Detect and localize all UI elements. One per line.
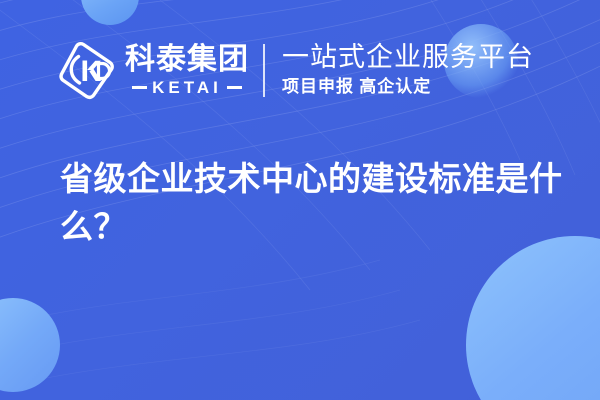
header-divider bbox=[263, 44, 265, 97]
slogan-sub: 项目申报 高企认定 bbox=[282, 76, 534, 98]
brand-name-en: KETAI bbox=[152, 79, 222, 96]
slogan-main: 一站式企业服务平台 bbox=[282, 42, 534, 72]
brand-text-block: 科泰集团 KETAI bbox=[125, 44, 249, 96]
promo-banner: 科泰集团 KETAI 一站式企业服务平台 项目申报 高企认定 省级企业技术中心的… bbox=[0, 0, 600, 400]
ketai-diamond-logo-icon bbox=[57, 39, 117, 101]
page-title: 省级企业技术中心的建设标准是什么？ bbox=[60, 155, 572, 250]
slogan-block: 一站式企业服务平台 项目申报 高企认定 bbox=[282, 42, 534, 98]
banner-header: 科泰集团 KETAI 一站式企业服务平台 项目申报 高企认定 bbox=[0, 0, 600, 140]
dash-left-icon bbox=[132, 86, 147, 89]
brand-name-en-row: KETAI bbox=[132, 79, 242, 96]
dash-right-icon bbox=[227, 86, 242, 89]
brand-lockup[interactable]: 科泰集团 KETAI bbox=[57, 39, 249, 101]
brand-name-cn: 科泰集团 bbox=[125, 44, 249, 76]
decor-circle-bottom-right bbox=[466, 236, 600, 400]
decor-circle-left bbox=[0, 298, 60, 392]
